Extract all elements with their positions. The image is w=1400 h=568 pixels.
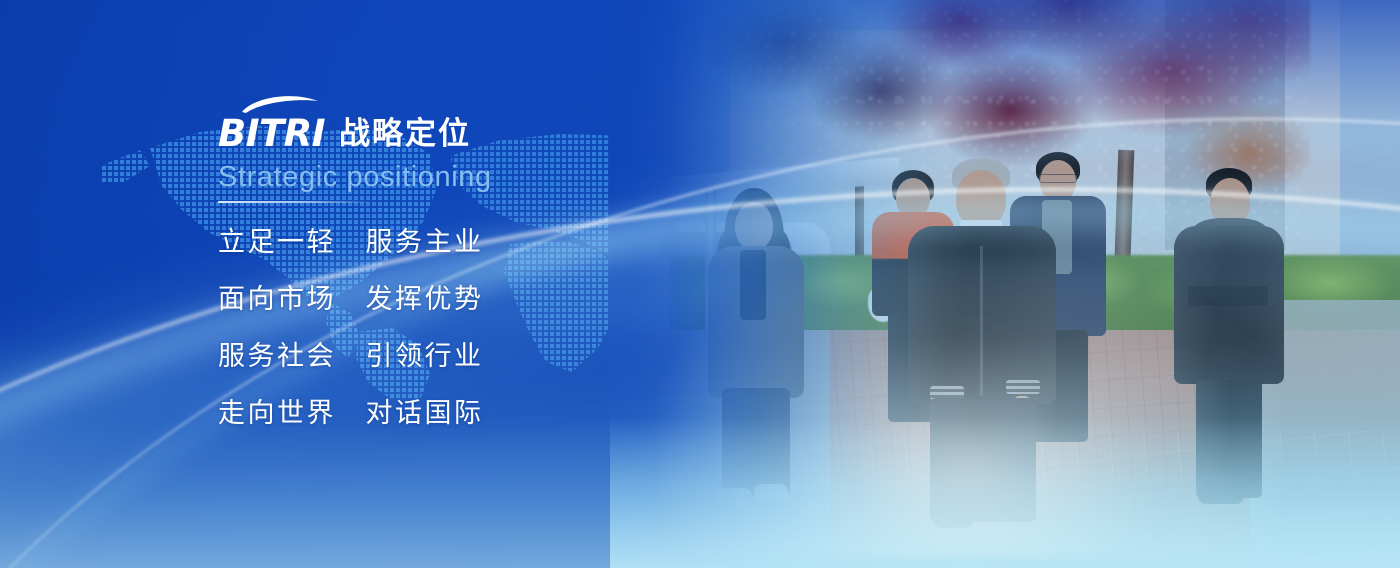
horizon-corner-glow: [660, 258, 1280, 558]
headline-en: Strategic positioning: [218, 162, 698, 194]
slogan-list: 立足一轻 服务主业 面向市场 发挥优势 服务社会 引领行业 走向世界 对话国际: [218, 220, 698, 430]
logo-row: BITRI 战略定位: [218, 106, 698, 152]
headline-cn: 战略定位: [339, 119, 471, 152]
banner-text-block: BITRI 战略定位 Strategic positioning 立足一轻 服务…: [218, 106, 698, 430]
divider-rule: [218, 201, 373, 203]
slogan-line: 立足一轻 服务主业: [218, 220, 698, 259]
slogan-line: 面向市场 发挥优势: [218, 277, 698, 316]
slogan-line: 走向世界 对话国际: [218, 391, 698, 430]
bitri-logo-text: BITRI: [218, 115, 325, 152]
strategic-positioning-banner: BITRI 战略定位 Strategic positioning 立足一轻 服务…: [0, 0, 1400, 568]
slogan-line: 服务社会 引领行业: [218, 334, 698, 373]
